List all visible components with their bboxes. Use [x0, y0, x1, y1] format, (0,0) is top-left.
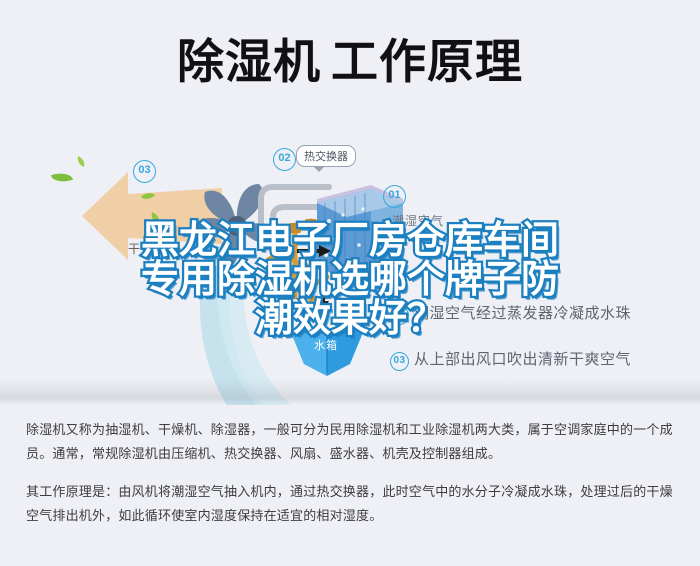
badge-03-inline: 03: [390, 352, 409, 371]
annotation-line-03: 03从上部出风口吹出清新干爽空气: [390, 348, 631, 371]
headline-line-2: 专用除湿机选哪个牌子防: [0, 261, 700, 300]
leaf-icon: [75, 156, 87, 167]
leaf-icon: [51, 169, 73, 186]
annotation-text-03: 从上部出风口吹出清新干爽空气: [414, 351, 631, 368]
banner-title-part2: 工作原理: [331, 35, 523, 88]
infographic-banner: 除湿机工作原理 03 干燥空气: [0, 0, 700, 405]
article-body: 除湿机又称为抽湿机、干燥机、除湿器，一般可分为民用除湿机和工业除湿机两大类，属于…: [0, 418, 700, 542]
headline-line-1: 黑龙江电子厂房仓库车间: [0, 222, 700, 261]
paragraph-definition: 除湿机又称为抽湿机、干燥机、除湿器，一般可分为民用除湿机和工业除湿机两大类，属于…: [26, 418, 674, 466]
overlay-headline: 黑龙江电子厂房仓库车间 专用除湿机选哪个牌子防 潮效果好？: [0, 222, 700, 339]
paragraph-working-principle: 其工作原理是：由风机将潮湿空气抽入机内，通过热交换器，此时空气中的水分子冷凝成水…: [26, 480, 674, 528]
banner-title-part1: 除湿机: [177, 35, 321, 88]
badge-02: 02: [273, 148, 296, 171]
badge-01: 01: [383, 185, 406, 208]
headline-line-3: 潮效果好？: [0, 300, 700, 339]
badge-03: 03: [133, 160, 156, 183]
banner-title: 除湿机工作原理: [0, 38, 700, 85]
callout-heat-exchanger: 热交换器: [296, 145, 356, 167]
